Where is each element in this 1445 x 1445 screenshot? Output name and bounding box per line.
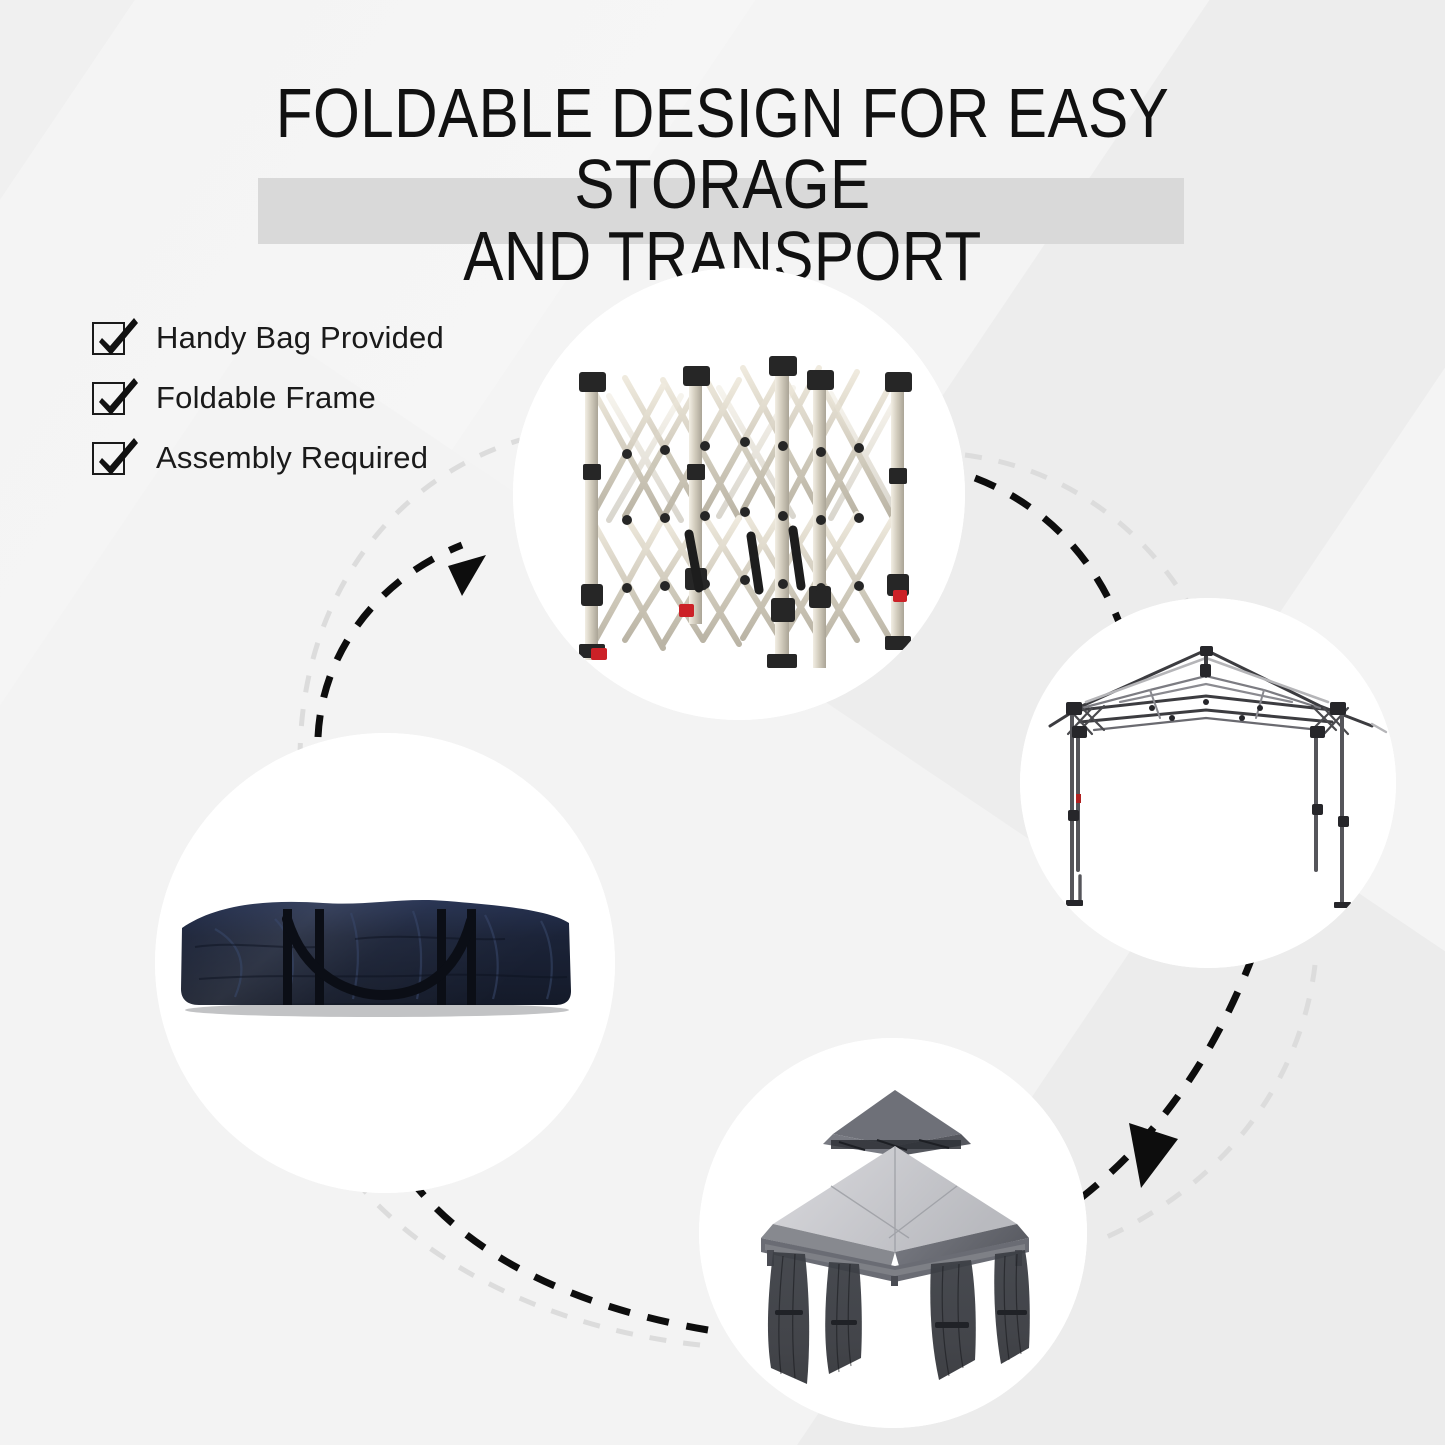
arrow-head-bag-to-frame [448,555,486,596]
ghost-arc-gazebo-to-bag [355,1180,700,1345]
arrow-head-erect-to-gazebo [1129,1123,1178,1188]
feature-label: Handy Bag Provided [156,320,444,356]
feature-item-handy-bag-provided: Handy Bag Provided [92,316,444,360]
feature-label: Foldable Frame [156,380,376,416]
product-photo-erected-frame [1020,598,1396,968]
checkbox-checked-icon [92,318,134,358]
checkbox-checked-icon [92,438,134,478]
feature-list: Handy Bag Provided Foldable Frame Assemb… [92,316,444,496]
arrow-path-gazebo-to-bag [415,1185,708,1330]
arrow-path-frame-to-erect [975,478,1122,630]
checkbox-checked-icon [92,378,134,418]
product-photo-folded-frame [513,268,965,720]
ghost-arc-erect-to-gazebo [1100,965,1315,1240]
product-photo-carry-bag [155,733,615,1193]
feature-label: Assembly Required [156,440,428,476]
feature-item-foldable-frame: Foldable Frame [92,376,444,420]
feature-item-assembly-required: Assembly Required [92,436,444,480]
page-title: FOLDABLE DESIGN FOR EASY STORAGE AND TRA… [153,78,1293,292]
infographic-canvas: FOLDABLE DESIGN FOR EASY STORAGE AND TRA… [0,0,1445,1445]
ghost-arc-frame-to-erect [965,455,1200,625]
product-photo-assembled-gazebo [699,1038,1087,1428]
arrow-path-erect-to-gazebo [1065,955,1253,1210]
arrow-path-bag-to-frame [318,545,462,737]
